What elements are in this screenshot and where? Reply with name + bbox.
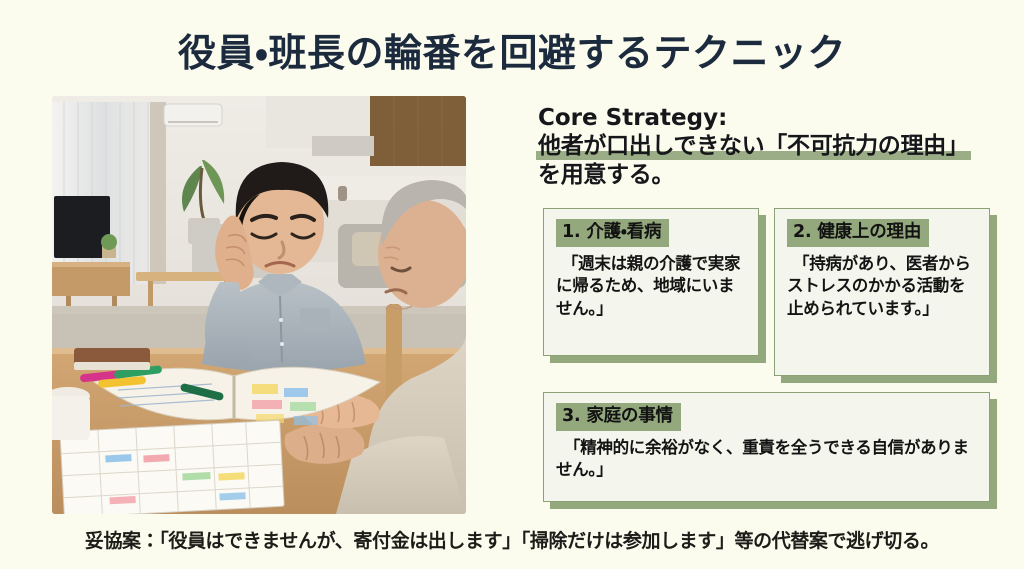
reason-card-1[interactable]: 1. 介護・看病 「週末は親の介護で実家に帰るため、地域にいません。」 xyxy=(543,208,759,356)
footer-note: 妥協案：「役員はできませんが、寄付金は出します」「掃除だけは参加します」等の代替… xyxy=(0,526,1024,553)
core-strategy-label: Core Strategy: xyxy=(538,104,1000,132)
reason-card-2-heading: 2. 健康上の理由 xyxy=(787,219,929,247)
photo-illustration xyxy=(52,96,466,514)
page-title: 役員・班長の輪番を回避するテクニック xyxy=(0,22,1024,77)
core-strategy-highlight-line: 他者が口出しできない「不可抗力の理由」 xyxy=(538,132,969,161)
reason-card-1-heading: 1. 介護・看病 xyxy=(556,219,669,247)
reason-card-2[interactable]: 2. 健康上の理由 「持病があり、医者からストレスのかかる活動を止められています… xyxy=(774,208,990,376)
hero-photo xyxy=(52,96,466,514)
reason-card-3[interactable]: 3. 家庭の事情 「精神的に余裕がなく、重責を全うできる自信がありません。」 xyxy=(543,392,990,502)
core-strategy-tail-line: を用意する。 xyxy=(538,161,1000,190)
reason-card-2-body: 「持病があり、医者からストレスのかかる活動を止められています。」 xyxy=(787,253,977,319)
reason-card-1-body: 「週末は親の介護で実家に帰るため、地域にいません。」 xyxy=(556,253,746,319)
reason-card-3-heading: 3. 家庭の事情 xyxy=(556,403,681,431)
reason-card-list: 1. 介護・看病 「週末は親の介護で実家に帰るため、地域にいません。」 2. 健… xyxy=(543,208,1005,508)
core-strategy-block: Core Strategy: 他者が口出しできない「不可抗力の理由」 を用意する… xyxy=(538,104,1000,190)
slide-root: 役員・班長の輪番を回避するテクニック xyxy=(0,0,1024,569)
reason-card-3-body: 「精神的に余裕がなく、重責を全うできる自信がありません。」 xyxy=(556,437,977,481)
